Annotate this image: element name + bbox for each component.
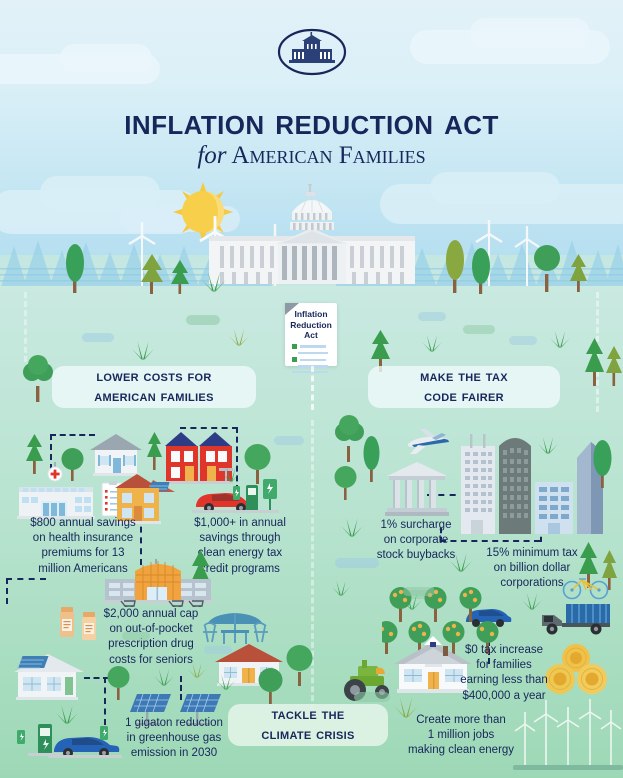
grass-tuft-icon bbox=[448, 548, 474, 572]
ground-pebble bbox=[186, 315, 220, 325]
ground-pebble bbox=[274, 436, 304, 445]
section-header-lower-costs[interactable]: Lower Costs for American Families bbox=[52, 366, 256, 408]
grass-tuft-icon bbox=[130, 336, 156, 360]
text-line bbox=[298, 352, 328, 355]
subtitle-rest: American Families bbox=[231, 142, 425, 169]
subtitle-lead: for bbox=[197, 142, 226, 169]
ground-pebble bbox=[463, 325, 495, 334]
ground-pebble bbox=[82, 333, 114, 342]
tree-icon bbox=[590, 440, 616, 488]
section-header-tax-fairer[interactable]: Make the Tax Code Fairer bbox=[368, 366, 560, 408]
callout-greenhouse-gas-reduction: 1 gigaton reduction in greenhouse gas em… bbox=[114, 716, 234, 762]
connector-line bbox=[6, 578, 8, 604]
grass-tuft-icon bbox=[392, 692, 420, 718]
tree-icon bbox=[334, 462, 358, 500]
text-line bbox=[300, 345, 326, 348]
callout-line: emission in 2030 bbox=[114, 746, 234, 761]
tree-icon bbox=[106, 662, 132, 700]
bullet-square-icon bbox=[292, 344, 297, 349]
bank-icon bbox=[385, 460, 449, 516]
document-bullet-row bbox=[292, 344, 337, 349]
text-line bbox=[292, 371, 328, 374]
document-text-row bbox=[298, 365, 337, 368]
grass-tuft-icon bbox=[227, 324, 251, 346]
tree-icon bbox=[258, 664, 284, 704]
tree-icon bbox=[286, 640, 314, 686]
ground-pebble bbox=[122, 632, 150, 640]
grass-tuft-icon bbox=[220, 462, 242, 482]
grass-tuft-icon bbox=[548, 326, 572, 348]
tree-icon bbox=[20, 352, 56, 402]
ev-charger-icon bbox=[28, 718, 62, 758]
ev-plug-icon bbox=[97, 723, 111, 745]
callout-line: on out-of-pocket bbox=[88, 622, 214, 637]
pill-bottle-icon bbox=[58, 607, 76, 637]
callout-line: 1 gigaton reduction bbox=[114, 716, 234, 731]
callout-no-tax-increase-under-400k: $0 tax increase for families earning les… bbox=[440, 643, 568, 704]
white-house-seal bbox=[276, 27, 348, 77]
ground-pebble bbox=[418, 312, 446, 321]
callout-line: $0 tax increase bbox=[440, 643, 568, 658]
tree-icon bbox=[603, 344, 623, 386]
bullet-square-icon bbox=[292, 357, 297, 362]
grass-tuft-icon bbox=[330, 576, 352, 596]
ground-pebble bbox=[204, 646, 232, 654]
solar-house-icon bbox=[8, 652, 88, 704]
skyscraper-icon bbox=[455, 424, 605, 536]
callout-line: 1 million jobs bbox=[396, 728, 526, 743]
tree-icon bbox=[360, 436, 384, 482]
pharmacy-icon bbox=[103, 559, 213, 607]
ground-pebble bbox=[335, 558, 379, 568]
ev-plug-icon bbox=[229, 482, 243, 504]
cloud-shape bbox=[40, 176, 160, 210]
section-title-line2: Code Fairer bbox=[424, 388, 504, 405]
grass-tuft-icon bbox=[339, 513, 365, 537]
grass-tuft-icon bbox=[200, 266, 228, 292]
callout-line: $1,000+ in annual bbox=[170, 516, 310, 531]
center-path-divider bbox=[311, 366, 314, 410]
callout-line: for families bbox=[440, 658, 568, 673]
section-title-line1: Tackle the bbox=[271, 706, 344, 723]
ev-plug-icon bbox=[14, 727, 28, 749]
callout-clean-energy-jobs: Create more than 1 million jobs making c… bbox=[396, 713, 526, 759]
tree-icon bbox=[566, 252, 592, 292]
callout-line: in greenhouse gas bbox=[114, 731, 234, 746]
callout-line: $2,000 annual cap bbox=[88, 607, 214, 622]
grass-tuft-icon bbox=[186, 658, 208, 678]
document-text-row bbox=[292, 371, 337, 374]
us-capitol-building bbox=[206, 184, 418, 290]
callout-line: $800 annual savings bbox=[8, 516, 158, 531]
callout-line: on health insurance bbox=[8, 531, 158, 546]
infographic-poster: Inflation Reduction Act for American Fam… bbox=[0, 0, 623, 778]
document-bullet-row bbox=[292, 357, 337, 362]
tree-icon bbox=[60, 445, 86, 481]
tree-icon bbox=[468, 248, 494, 294]
callout-line: savings through bbox=[170, 531, 310, 546]
tree-icon bbox=[442, 240, 468, 293]
document-title: Inflation Reduction Act bbox=[285, 303, 337, 341]
page-title: Inflation Reduction Act bbox=[0, 101, 623, 143]
tree-icon bbox=[168, 258, 192, 294]
cloud-shape bbox=[60, 44, 152, 72]
house-icon bbox=[88, 432, 144, 476]
section-header-climate[interactable]: Tackle the Climate Crisis bbox=[228, 704, 388, 746]
grass-tuft-icon bbox=[536, 432, 560, 454]
text-line bbox=[300, 359, 326, 362]
grass-tuft-icon bbox=[520, 588, 544, 610]
ira-bill-document: Inflation Reduction Act bbox=[285, 303, 337, 366]
page-subtitle: for American Families bbox=[0, 142, 623, 170]
truck-icon bbox=[540, 602, 612, 636]
grass-tuft-icon bbox=[152, 664, 176, 686]
callout-line: on corporate bbox=[355, 533, 477, 548]
section-title-line1: Lower Costs for bbox=[96, 368, 211, 385]
tree-icon bbox=[532, 240, 562, 292]
connector-line bbox=[6, 578, 46, 580]
cloud-shape bbox=[430, 172, 560, 204]
tree-icon bbox=[138, 252, 166, 294]
section-title-line1: Make the Tax bbox=[420, 368, 508, 385]
tree-icon bbox=[62, 243, 88, 293]
callout-line: prescription drug bbox=[88, 637, 214, 652]
airplane-icon bbox=[400, 428, 452, 458]
bicycle-icon bbox=[562, 574, 610, 600]
callout-line: making clean energy bbox=[396, 743, 526, 758]
callout-line: earning less than bbox=[440, 673, 568, 688]
ground-pebble bbox=[509, 336, 537, 345]
section-title-line2: American Families bbox=[94, 388, 213, 405]
tree-icon bbox=[143, 430, 167, 470]
ground-pebble bbox=[403, 587, 435, 596]
hospital-icon bbox=[17, 479, 95, 519]
grass-tuft-icon bbox=[215, 670, 237, 690]
grass-tuft-icon bbox=[420, 330, 444, 352]
document-text-row bbox=[298, 352, 337, 355]
wind-farm bbox=[513, 698, 623, 778]
tree-icon bbox=[22, 432, 48, 474]
section-title-line2: Climate Crisis bbox=[261, 726, 354, 743]
tree-icon bbox=[243, 440, 273, 484]
callout-line: 1% surcharge bbox=[355, 518, 477, 533]
ground-pebble bbox=[354, 692, 390, 702]
cloud-shape bbox=[470, 18, 590, 48]
